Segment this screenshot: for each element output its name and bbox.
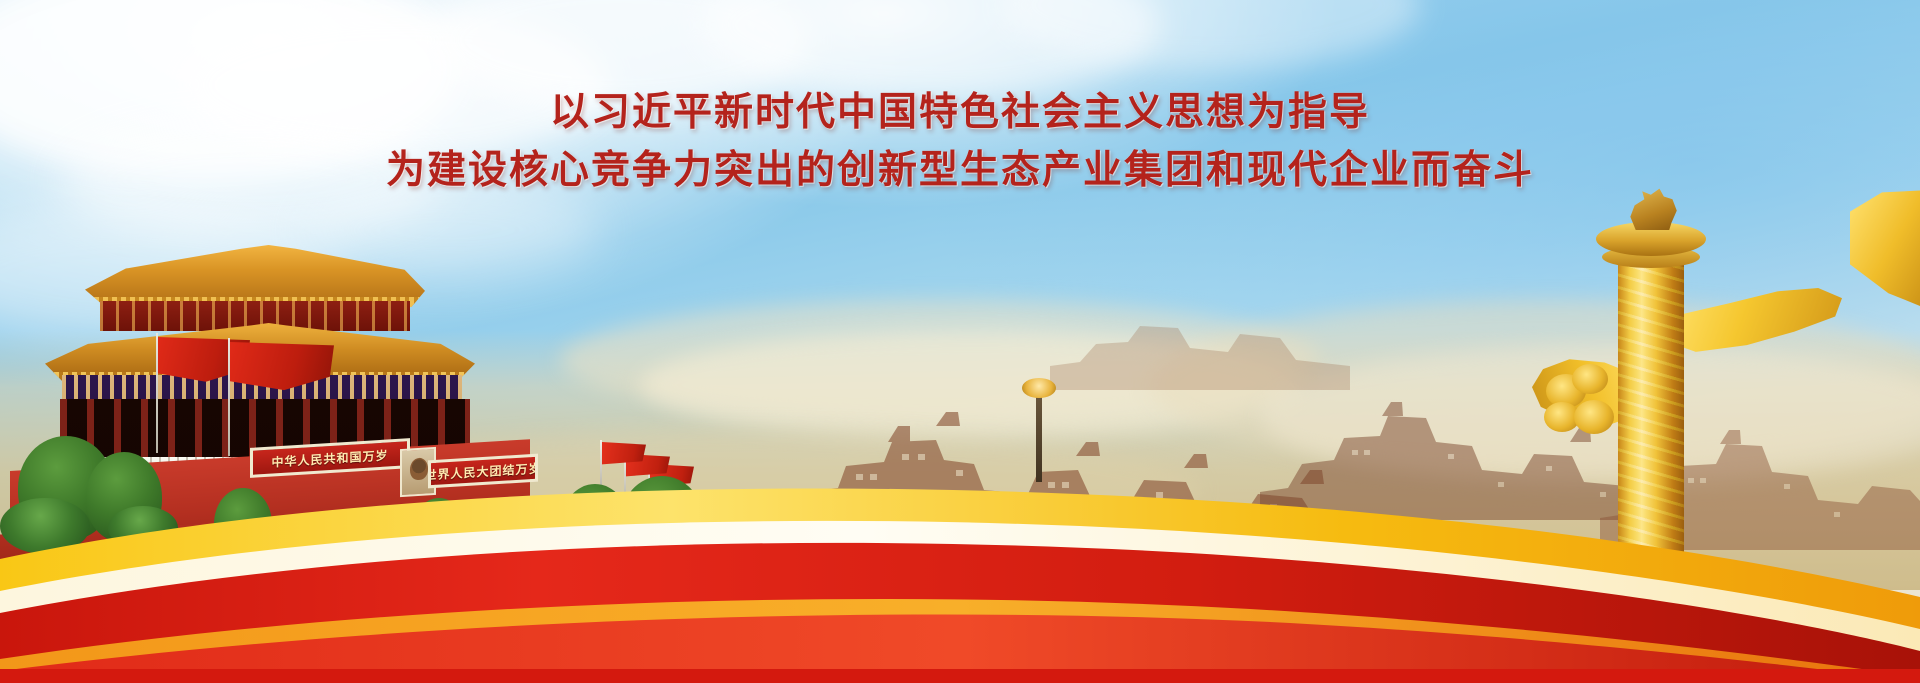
ribbon-base (0, 669, 1920, 683)
huabiao-cloud-swirl (1574, 400, 1614, 434)
flag-pole (228, 338, 230, 456)
slogan-line-2: 为建设核心竞争力突出的创新型生态产业集团和现代企业而奋斗 (0, 146, 1920, 196)
slogan-block: 以习近平新时代中国特色社会主义思想为指导 为建设核心竞争力突出的创新型生态产业集… (0, 88, 1920, 196)
street-lamp-head (1022, 378, 1056, 398)
banner-root: 中华人民共和国万岁 世界人民大团结万岁 (0, 0, 1920, 683)
tiananmen-upper-roof (85, 245, 425, 307)
great-wall-silhouette-haze (1050, 300, 1350, 390)
bottom-ribbons (0, 473, 1920, 683)
street-lamp-pole (1036, 386, 1042, 482)
slogan-line-1: 以习近平新时代中国特色社会主义思想为指导 (0, 88, 1920, 138)
flag-pole (156, 333, 158, 453)
huabiao-cloud-swirl (1572, 364, 1608, 394)
